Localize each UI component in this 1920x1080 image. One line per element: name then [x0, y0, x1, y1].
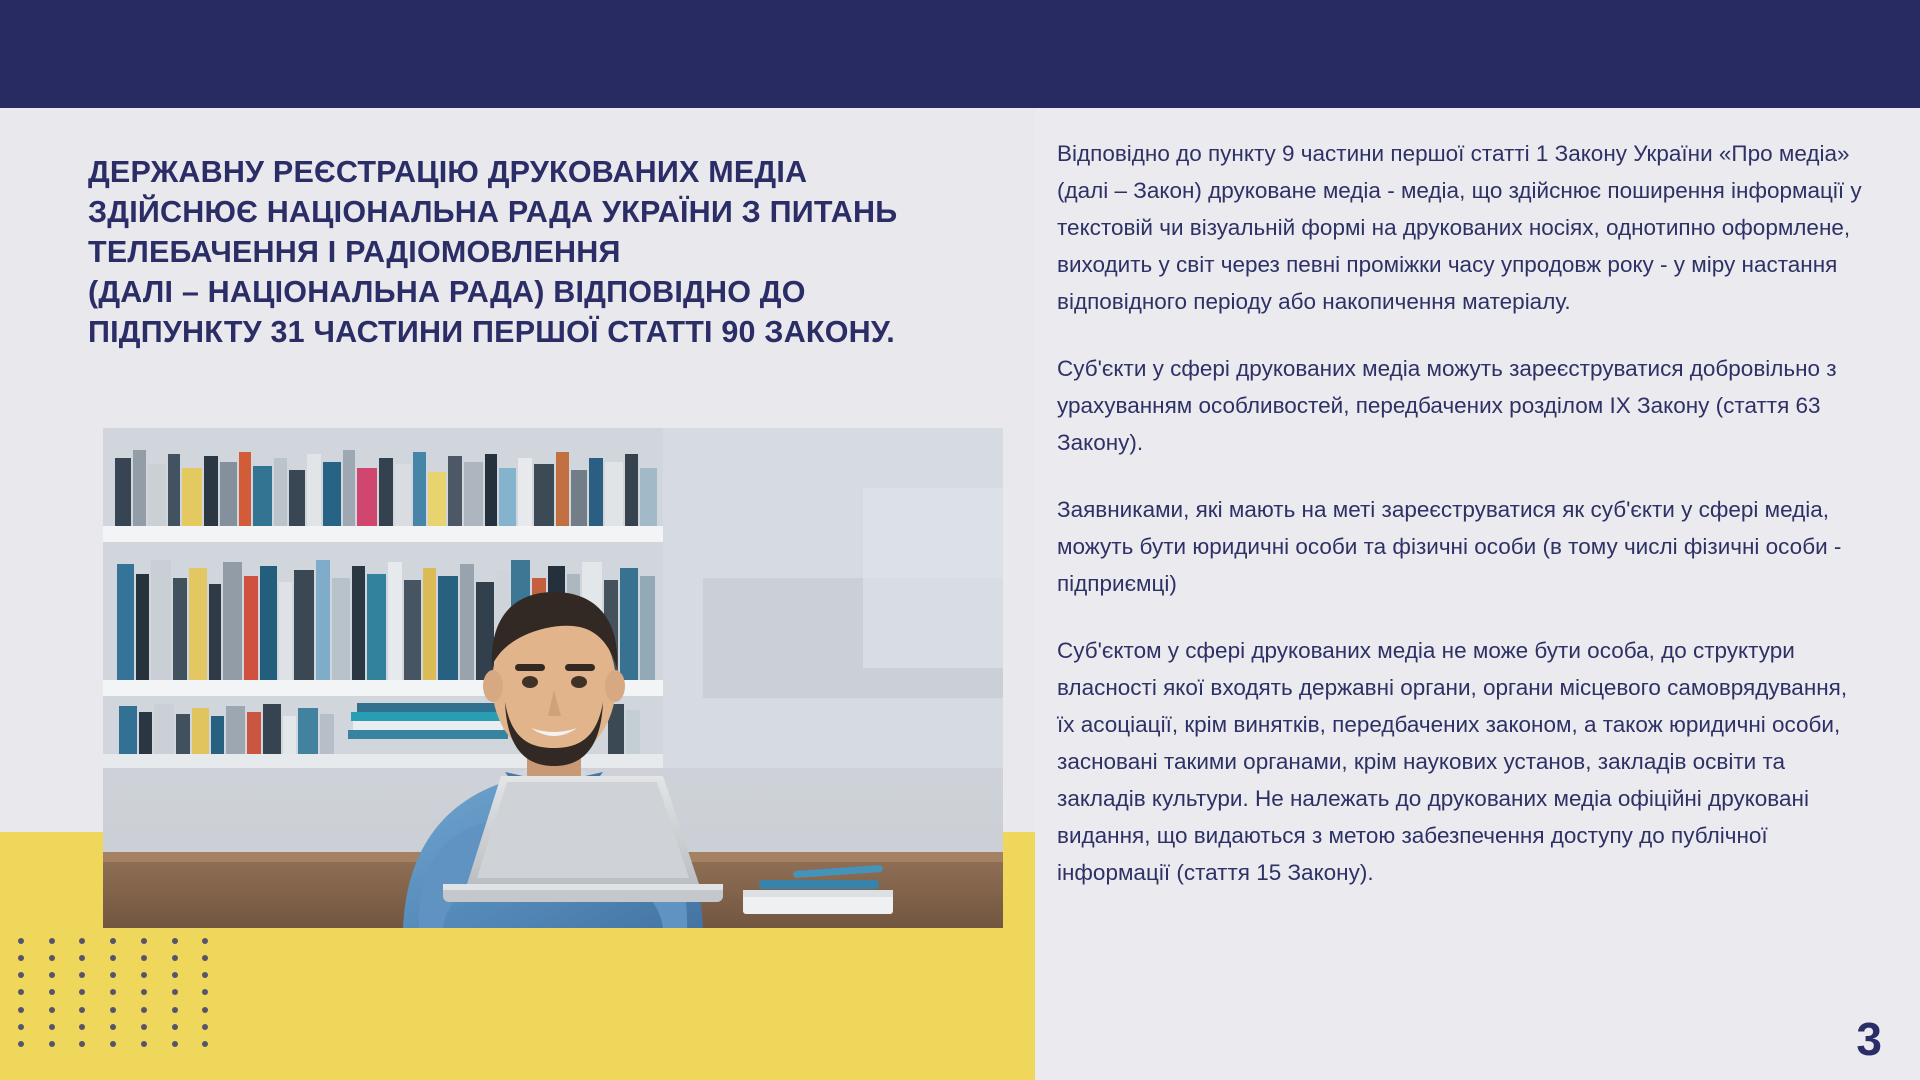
dot	[141, 989, 147, 995]
dot	[141, 972, 147, 978]
dot	[202, 1024, 208, 1030]
dot	[18, 938, 24, 944]
dot	[110, 1007, 116, 1013]
dot	[141, 1041, 147, 1047]
heading-line-1: ДЕРЖАВНУ РЕЄСТРАЦІЮ ДРУКОВАНИХ МЕДІА	[88, 152, 1038, 192]
dot	[141, 1024, 147, 1030]
heading-line-3: ТЕЛЕБАЧЕННЯ І РАДІОМОВЛЕННЯ	[88, 232, 1038, 272]
dot	[110, 972, 116, 978]
dot	[141, 955, 147, 961]
dot	[110, 989, 116, 995]
top-navy-bar	[0, 0, 1920, 108]
dot	[79, 1041, 85, 1047]
dot	[79, 972, 85, 978]
dot	[49, 938, 55, 944]
heading-line-4: (ДАЛІ – НАЦІОНАЛЬНА РАДА) ВІДПОВІДНО ДО	[88, 272, 1038, 312]
decorative-dot-grid	[18, 938, 233, 1058]
dot	[172, 938, 178, 944]
dot	[172, 1007, 178, 1013]
dot	[172, 1024, 178, 1030]
dot	[18, 1024, 24, 1030]
dot	[202, 955, 208, 961]
page-number: 3	[1856, 1016, 1882, 1062]
dot	[79, 955, 85, 961]
body-paragraph-2: Суб'єкти у сфері друкованих медіа можуть…	[1057, 350, 1867, 461]
dot	[79, 1024, 85, 1030]
dot	[110, 1041, 116, 1047]
dot	[79, 1007, 85, 1013]
dot	[18, 1041, 24, 1047]
dot	[172, 955, 178, 961]
page-title: ДЕРЖАВНУ РЕЄСТРАЦІЮ ДРУКОВАНИХ МЕДІА ЗДІ…	[88, 152, 1038, 352]
dot	[18, 1007, 24, 1013]
slide-root: ДЕРЖАВНУ РЕЄСТРАЦІЮ ДРУКОВАНИХ МЕДІА ЗДІ…	[0, 0, 1920, 1080]
photo-man-with-laptop	[103, 428, 1003, 928]
body-paragraph-1: Відповідно до пункту 9 частини першої ст…	[1057, 135, 1867, 320]
dot	[202, 1041, 208, 1047]
dot	[18, 972, 24, 978]
dot	[79, 989, 85, 995]
dot	[79, 938, 85, 944]
body-text-column: Відповідно до пункту 9 частини першої ст…	[1057, 135, 1867, 891]
dot	[202, 972, 208, 978]
dot	[110, 938, 116, 944]
dot	[172, 1041, 178, 1047]
dot	[141, 938, 147, 944]
dot	[172, 972, 178, 978]
dot	[18, 989, 24, 995]
dot	[202, 938, 208, 944]
dot	[18, 955, 24, 961]
dot	[110, 1024, 116, 1030]
dot	[49, 955, 55, 961]
dot	[49, 1041, 55, 1047]
dot	[49, 1024, 55, 1030]
dot	[49, 972, 55, 978]
dot	[202, 989, 208, 995]
heading-line-5: ПІДПУНКТУ 31 ЧАСТИНИ ПЕРШОЇ СТАТТІ 90 ЗА…	[88, 312, 1038, 352]
body-paragraph-3: Заявниками, які мають на меті зареєструв…	[1057, 491, 1867, 602]
dot	[49, 1007, 55, 1013]
dot	[141, 1007, 147, 1013]
dot	[202, 1007, 208, 1013]
dot	[49, 989, 55, 995]
dot	[172, 989, 178, 995]
dot	[110, 955, 116, 961]
body-paragraph-4: Суб'єктом у сфері друкованих медіа не мо…	[1057, 632, 1867, 891]
heading-line-2: ЗДІЙСНЮЄ НАЦІОНАЛЬНА РАДА УКРАЇНИ З ПИТА…	[88, 192, 1038, 232]
